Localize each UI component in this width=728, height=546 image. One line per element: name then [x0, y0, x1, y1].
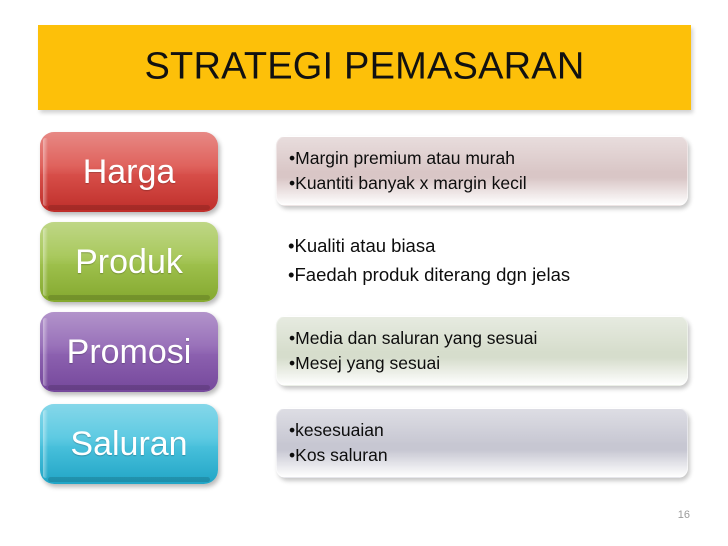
- detail-panel-produk: •Kualiti atau biasa •Faedah produk diter…: [276, 226, 688, 296]
- list-item: •Kualiti atau biasa: [288, 232, 682, 261]
- table-row: Promosi • Media dan saluran yang sesuai …: [0, 312, 728, 392]
- list-item-text: Mesej yang sesuai: [295, 353, 440, 373]
- list-item-text: Media dan saluran yang sesuai: [295, 328, 537, 348]
- detail-panel-saluran: • kesesuaian • Kos saluran: [276, 408, 688, 478]
- list-item-text: Kualiti atau biasa: [294, 235, 435, 256]
- category-label: Harga: [83, 155, 176, 189]
- table-row: Produk •Kualiti atau biasa •Faedah produ…: [0, 222, 728, 302]
- category-chip-harga[interactable]: Harga: [40, 132, 218, 212]
- category-label: Promosi: [67, 335, 192, 369]
- page-number: 16: [678, 509, 690, 521]
- slide-canvas: STRATEGI PEMASARAN Harga • Margin premiu…: [0, 0, 728, 546]
- category-chip-promosi[interactable]: Promosi: [40, 312, 218, 392]
- table-row: Saluran • kesesuaian • Kos saluran: [0, 404, 728, 484]
- detail-panel-harga: • Margin premium atau murah • Kuantiti b…: [276, 136, 688, 206]
- list-item: • Margin premium atau murah: [289, 146, 681, 171]
- list-item-text: Kos saluran: [295, 445, 387, 465]
- chip-left-highlight: [43, 228, 48, 296]
- category-chip-saluran[interactable]: Saluran: [40, 404, 218, 484]
- list-item-text: Kuantiti banyak x margin kecil: [295, 173, 527, 193]
- chip-bottom-shade: [48, 385, 210, 390]
- chip-bottom-shade: [48, 295, 210, 300]
- chip-bottom-shade: [48, 205, 210, 210]
- list-item: • Media dan saluran yang sesuai: [289, 326, 681, 351]
- list-item: • kesesuaian: [289, 418, 681, 443]
- chip-left-highlight: [43, 318, 48, 386]
- list-item-text: Faedah produk diterang dgn jelas: [294, 264, 570, 285]
- detail-panel-promosi: • Media dan saluran yang sesuai • Mesej …: [276, 316, 688, 386]
- list-item: • Kos saluran: [289, 443, 681, 468]
- list-item: •Faedah produk diterang dgn jelas: [288, 261, 682, 290]
- chip-left-highlight: [43, 138, 48, 206]
- chip-bottom-shade: [48, 477, 210, 482]
- list-item-text: kesesuaian: [295, 420, 384, 440]
- table-row: Harga • Margin premium atau murah • Kuan…: [0, 132, 728, 212]
- content-rows: Harga • Margin premium atau murah • Kuan…: [0, 0, 728, 546]
- category-label: Saluran: [70, 427, 187, 461]
- category-chip-produk[interactable]: Produk: [40, 222, 218, 302]
- list-item: • Kuantiti banyak x margin kecil: [289, 171, 681, 196]
- list-item: • Mesej yang sesuai: [289, 351, 681, 376]
- list-item-text: Margin premium atau murah: [295, 148, 515, 168]
- chip-left-highlight: [43, 410, 48, 478]
- category-label: Produk: [75, 245, 183, 279]
